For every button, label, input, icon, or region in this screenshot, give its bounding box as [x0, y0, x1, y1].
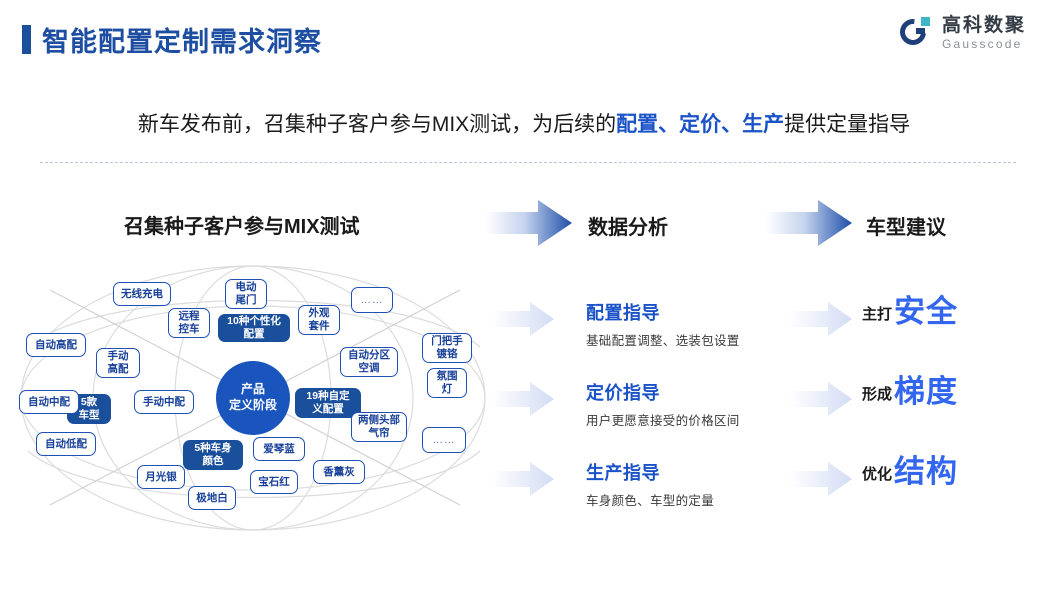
result-row-structure: 优化 结构 [862, 456, 958, 487]
slide-root: 智能配置定制需求洞察 高科数聚 Gausscode 新车发布前，召集种子客户参与… [0, 0, 1048, 589]
result-prefix: 形成 [862, 383, 892, 407]
subtitle-part1: 新车发布前，召集种子客户参与MIX测试，为后续的 [138, 113, 616, 136]
row-arrow-right-1-icon [790, 302, 852, 336]
column-heading-model-advice: 车型建议 [866, 211, 946, 240]
diagram-node-manual-mid-trim: 手动中配 [134, 390, 194, 414]
row-arrow-right-2-icon [790, 382, 852, 416]
column-heading-seed-test: 召集种子客户参与MIX测试 [124, 210, 360, 239]
subtitle-part2: 提供定量指导 [784, 113, 910, 136]
diagram-node-aegean-blue: 爱琴蓝 [253, 437, 305, 461]
result-prefix: 主打 [862, 303, 892, 327]
diagram-hub-19-custom: 19种自定 义配置 [295, 388, 361, 418]
page-title: 智能配置定制需求洞察 [22, 20, 322, 59]
analysis-row-pricing: 定价指导 用户更愿意接受的价格区间 [586, 379, 806, 429]
analysis-subtitle: 车身颜色、车型的定量 [586, 490, 806, 509]
diagram-node-auto-low-trim: 自动低配 [36, 432, 96, 456]
analysis-title: 配置指导 [586, 299, 806, 325]
diagram-node-chrome-door-handle: 门把手 镀铬 [422, 333, 472, 363]
diagram-hub-5-body-colors: 5种车身 颜色 [183, 440, 243, 470]
flow-arrow-2-icon [766, 200, 852, 246]
diagram-node-ambient-light: 氛围 灯 [427, 368, 467, 398]
diagram-node-auto-mid-trim: 自动中配 [19, 390, 79, 414]
result-row-tier: 形成 梯度 [862, 376, 958, 407]
product-definition-diagram: 产品 定义阶段 10种个性化 配置 5款 车型 19种自定 义配置 5种车身 颜… [10, 255, 510, 540]
logo-text-cn: 高科数聚 [942, 16, 1026, 35]
diagram-hub-10-personalized: 10种个性化 配置 [218, 314, 290, 342]
logo-text-en: Gausscode [942, 38, 1026, 50]
result-prefix: 优化 [862, 463, 892, 487]
analysis-subtitle: 基础配置调整、选装包设置 [586, 330, 806, 349]
column-heading-data-analysis: 数据分析 [588, 211, 668, 240]
diagram-node-appearance-kit: 外观 套件 [298, 305, 340, 335]
diagram-node-manual-high-trim: 手动 高配 [96, 348, 140, 378]
result-row-safety: 主打 安全 [862, 296, 958, 327]
diagram-node-side-head-curtain: 两侧头部 气帘 [351, 412, 407, 442]
diagram-node-power-tailgate: 电动 尾门 [225, 279, 267, 309]
row-arrow-right-3-icon [790, 462, 852, 496]
diagram-node-auto-high-trim: 自动高配 [26, 333, 86, 357]
diagram-center-node: 产品 定义阶段 [216, 361, 290, 435]
gausscode-logo-icon [900, 16, 934, 50]
subtitle: 新车发布前，召集种子客户参与MIX测试，为后续的配置、定价、生产提供定量指导 [0, 108, 1048, 138]
brand-logo: 高科数聚 Gausscode [900, 16, 1026, 50]
diagram-node-moonlight-silver: 月光银 [137, 465, 185, 489]
result-word: 结构 [894, 456, 958, 487]
diagram-node-auto-dual-zone-ac: 自动分区 空调 [340, 347, 398, 377]
diagram-node-lavender-gray: 香薰灰 [313, 460, 365, 484]
analysis-row-config: 配置指导 基础配置调整、选装包设置 [586, 299, 806, 349]
subtitle-highlight: 配置、定价、生产 [616, 113, 784, 136]
analysis-subtitle: 用户更愿意接受的价格区间 [586, 410, 806, 429]
diagram-node-ellipsis-top: …… [351, 287, 393, 313]
title-text: 智能配置定制需求洞察 [42, 20, 322, 59]
diagram-node-ruby-red: 宝石红 [250, 470, 298, 494]
flow-arrow-1-icon [486, 200, 572, 246]
result-word: 梯度 [894, 376, 958, 407]
section-divider [40, 162, 1016, 163]
diagram-node-remote-control: 远程 控车 [168, 308, 210, 338]
diagram-node-polar-white: 极地白 [188, 486, 236, 510]
analysis-row-production: 生产指导 车身颜色、车型的定量 [586, 459, 806, 509]
diagram-node-wireless-charging: 无线充电 [113, 282, 171, 306]
result-word: 安全 [894, 296, 958, 327]
analysis-title: 定价指导 [586, 379, 806, 405]
analysis-title: 生产指导 [586, 459, 806, 485]
diagram-node-ellipsis-right: …… [422, 427, 466, 453]
title-accent-bar [22, 25, 31, 54]
